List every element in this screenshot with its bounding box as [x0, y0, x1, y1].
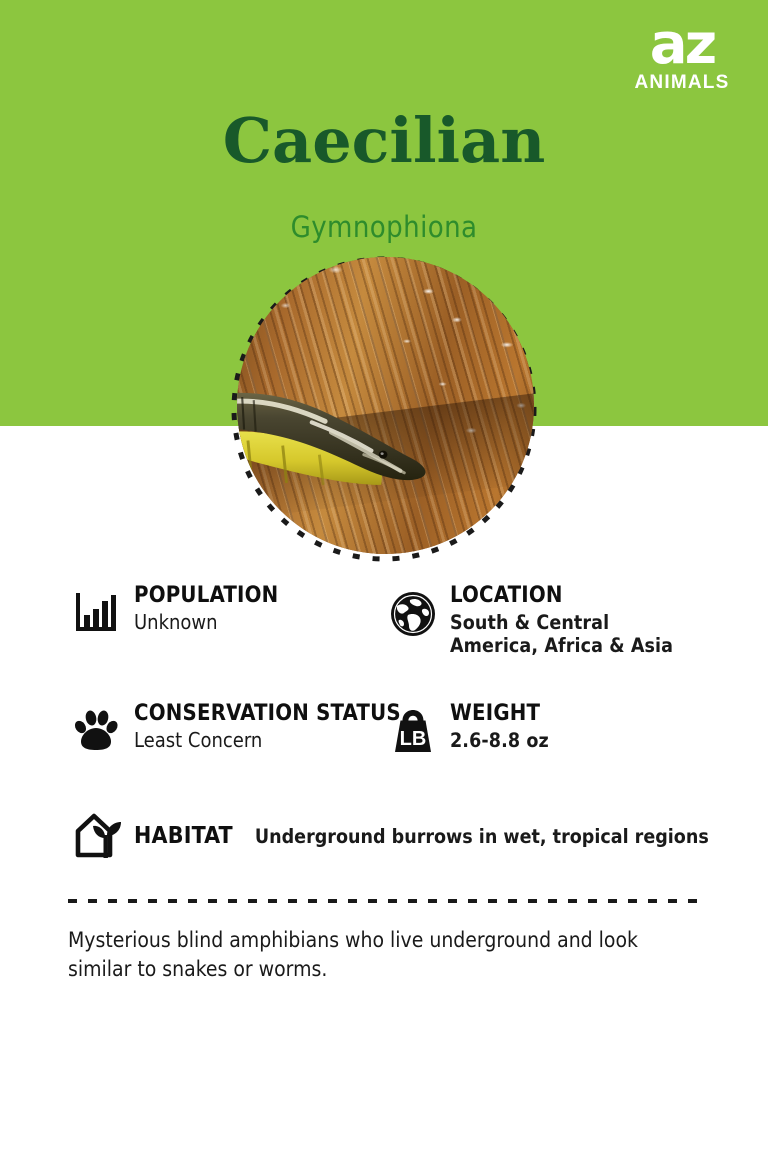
page-title: Caecilian: [0, 110, 768, 172]
fact-value-location-line2: America, Africa & Asia: [450, 634, 768, 657]
animal-photo: [227, 252, 541, 566]
fact-weight: LB WEIGHT 2.6-8.8 oz: [380, 701, 768, 757]
fact-text: CONSERVATION STATUS Least Concern: [134, 701, 401, 753]
fact-text: WEIGHT 2.6-8.8 oz: [450, 701, 768, 752]
animal-photo-circle: [237, 257, 534, 554]
paw-print-icon: [72, 701, 134, 755]
fact-label-location: LOCATION: [450, 583, 768, 608]
house-plant-icon: [72, 811, 134, 861]
fact-row: HABITAT Underground burrows in wet, trop…: [0, 811, 768, 861]
fact-conservation-status: CONSERVATION STATUS Least Concern: [0, 701, 380, 757]
fact-text: HABITAT Underground burrows in wet, trop…: [134, 823, 709, 849]
fact-value-location-line1: South & Central: [450, 611, 768, 634]
fact-value-weight: 2.6-8.8 oz: [450, 729, 768, 752]
dashed-divider: [68, 899, 700, 903]
globe-icon: [388, 583, 450, 639]
fact-text: POPULATION Unknown: [134, 583, 380, 635]
fact-label-habitat: HABITAT: [134, 823, 233, 849]
fact-location: LOCATION South & Central America, Africa…: [380, 583, 768, 657]
weight-icon-label: LB: [400, 728, 427, 750]
description-text: Mysterious blind amphibians who live und…: [68, 926, 688, 984]
fact-label-population: POPULATION: [134, 583, 380, 608]
fact-text: LOCATION South & Central America, Africa…: [450, 583, 768, 657]
fact-label-weight: WEIGHT: [450, 701, 768, 726]
fact-row: POPULATION Unknown LOCATION South & Cent…: [0, 583, 768, 657]
fact-value-conservation-status: Least Concern: [134, 729, 401, 753]
scientific-name: Gymnophiona: [0, 210, 768, 244]
fact-habitat: HABITAT Underground burrows in wet, trop…: [0, 811, 768, 861]
fact-row: CONSERVATION STATUS Least Concern LB WEI…: [0, 701, 768, 757]
bar-chart-icon: [72, 583, 134, 637]
fact-population: POPULATION Unknown: [0, 583, 380, 657]
caecilian-illustration: [237, 388, 451, 489]
weight-lb-icon: LB: [388, 701, 450, 757]
fact-value-population: Unknown: [134, 611, 380, 635]
az-logo-mark: az: [622, 18, 742, 71]
fact-label-conservation-status: CONSERVATION STATUS: [134, 701, 401, 726]
fact-value-habitat: Underground burrows in wet, tropical reg…: [255, 825, 709, 848]
az-animals-logo[interactable]: az ANIMALS: [622, 18, 742, 92]
az-logo-wordmark: ANIMALS: [622, 73, 742, 92]
